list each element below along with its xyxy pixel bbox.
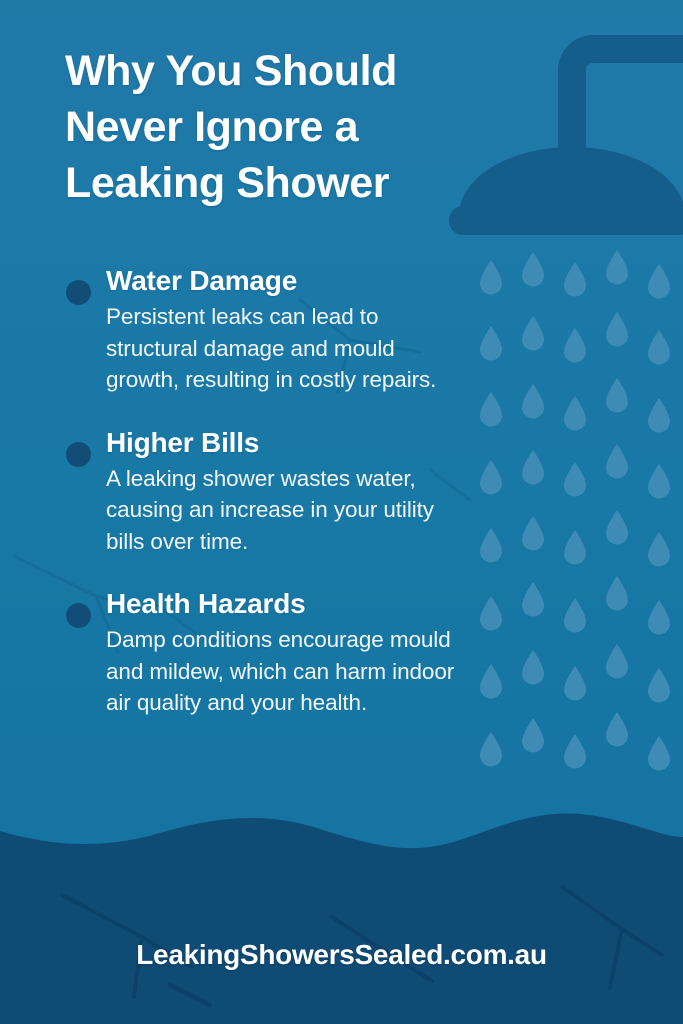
point-body-line: bills over time. <box>106 526 560 558</box>
page-title: Why You Should Never Ignore a Leaking Sh… <box>65 44 545 212</box>
title-line-3: Leaking Shower <box>65 156 545 212</box>
list-item: Higher Bills A leaking shower wastes wat… <box>0 426 560 558</box>
point-body-line: growth, resulting in costly repairs. <box>106 364 560 396</box>
point-body: Damp conditions encourage mould and mild… <box>106 624 560 719</box>
point-body-line: structural damage and mould <box>106 333 560 365</box>
point-heading: Water Damage <box>106 264 560 298</box>
bullet-dot-icon <box>66 603 91 628</box>
point-body-line: causing an increase in your utility <box>106 494 560 526</box>
infographic-poster: Why You Should Never Ignore a Leaking Sh… <box>0 0 683 1024</box>
point-body-line: Damp conditions encourage mould <box>106 624 560 656</box>
point-body: A leaking shower wastes water, causing a… <box>106 463 560 558</box>
reasons-list: Water Damage Persistent leaks can lead t… <box>0 264 560 719</box>
bullet-dot-icon <box>66 442 91 467</box>
list-item: Water Damage Persistent leaks can lead t… <box>0 264 560 396</box>
title-line-1: Why You Should <box>65 44 545 100</box>
point-body: Persistent leaks can lead to structural … <box>106 301 560 396</box>
point-body-line: air quality and your health. <box>106 687 560 719</box>
point-body-line: Persistent leaks can lead to <box>106 301 560 333</box>
list-item: Health Hazards Damp conditions encourage… <box>0 587 560 719</box>
point-body-line: A leaking shower wastes water, <box>106 463 560 495</box>
title-line-2: Never Ignore a <box>65 100 545 156</box>
footer-wave-band <box>0 789 683 1024</box>
point-body-line: and mildew, which can harm indoor <box>106 656 560 688</box>
point-heading: Health Hazards <box>106 587 560 621</box>
website-url[interactable]: LeakingShowersSealed.com.au <box>0 939 683 971</box>
point-heading: Higher Bills <box>106 426 560 460</box>
bullet-dot-icon <box>66 280 91 305</box>
